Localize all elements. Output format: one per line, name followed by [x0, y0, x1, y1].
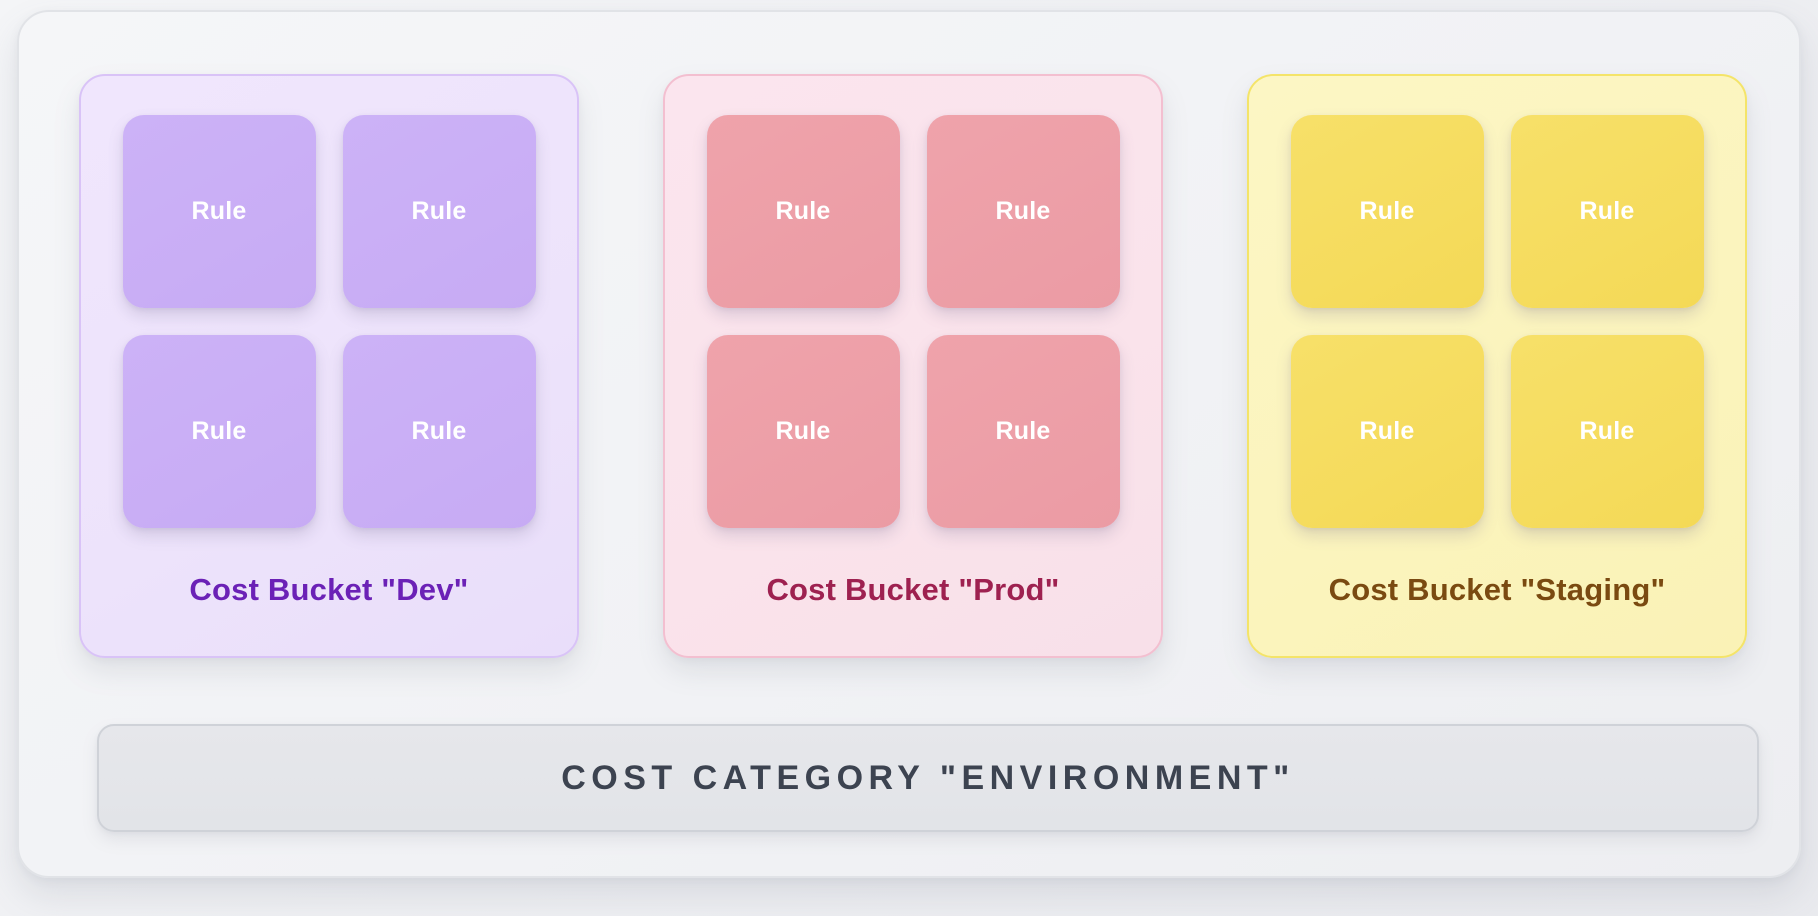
rule-tile[interactable]: Rule: [1291, 335, 1484, 528]
cost-category-title: COST CATEGORY "ENVIRONMENT": [561, 759, 1295, 798]
rule-grid-staging: Rule Rule Rule Rule: [1291, 115, 1704, 528]
cost-bucket-label-dev: Cost Bucket "Dev": [189, 572, 468, 608]
rule-tile-label: Rule: [1360, 417, 1415, 446]
rule-tile-label: Rule: [192, 417, 247, 446]
rule-grid-dev: Rule Rule Rule Rule: [123, 115, 536, 528]
rule-tile-label: Rule: [192, 197, 247, 226]
cost-category-banner[interactable]: COST CATEGORY "ENVIRONMENT": [97, 724, 1759, 832]
rule-tile-label: Rule: [412, 197, 467, 226]
rule-grid-prod: Rule Rule Rule Rule: [707, 115, 1120, 528]
cost-bucket-label-prod: Cost Bucket "Prod": [766, 572, 1059, 608]
rule-tile[interactable]: Rule: [1291, 115, 1484, 308]
rule-tile[interactable]: Rule: [1511, 335, 1704, 528]
cost-bucket-dev[interactable]: Rule Rule Rule Rule Cost Bucket "Dev": [79, 74, 579, 658]
rule-tile-label: Rule: [1580, 417, 1635, 446]
cost-bucket-prod[interactable]: Rule Rule Rule Rule Cost Bucket "Prod": [663, 74, 1163, 658]
rule-tile[interactable]: Rule: [927, 115, 1120, 308]
rule-tile-label: Rule: [776, 197, 831, 226]
rule-tile[interactable]: Rule: [1511, 115, 1704, 308]
cost-bucket-label-staging: Cost Bucket "Staging": [1329, 572, 1666, 608]
rule-tile[interactable]: Rule: [927, 335, 1120, 528]
diagram-canvas: Rule Rule Rule Rule Cost Bucket "Dev": [0, 0, 1818, 916]
rule-tile-label: Rule: [1360, 197, 1415, 226]
rule-tile-label: Rule: [996, 197, 1051, 226]
cost-bucket-staging[interactable]: Rule Rule Rule Rule Cost Bucket "Staging…: [1247, 74, 1747, 658]
rule-tile[interactable]: Rule: [343, 115, 536, 308]
rule-tile-label: Rule: [1580, 197, 1635, 226]
rule-tile-label: Rule: [996, 417, 1051, 446]
rule-tile-label: Rule: [412, 417, 467, 446]
cost-bucket-row: Rule Rule Rule Rule Cost Bucket "Dev": [79, 74, 1747, 658]
rule-tile[interactable]: Rule: [123, 115, 316, 308]
rule-tile[interactable]: Rule: [123, 335, 316, 528]
rule-tile[interactable]: Rule: [343, 335, 536, 528]
rule-tile[interactable]: Rule: [707, 115, 900, 308]
rule-tile[interactable]: Rule: [707, 335, 900, 528]
rule-tile-label: Rule: [776, 417, 831, 446]
diagram-frame: Rule Rule Rule Rule Cost Bucket "Dev": [17, 10, 1801, 878]
